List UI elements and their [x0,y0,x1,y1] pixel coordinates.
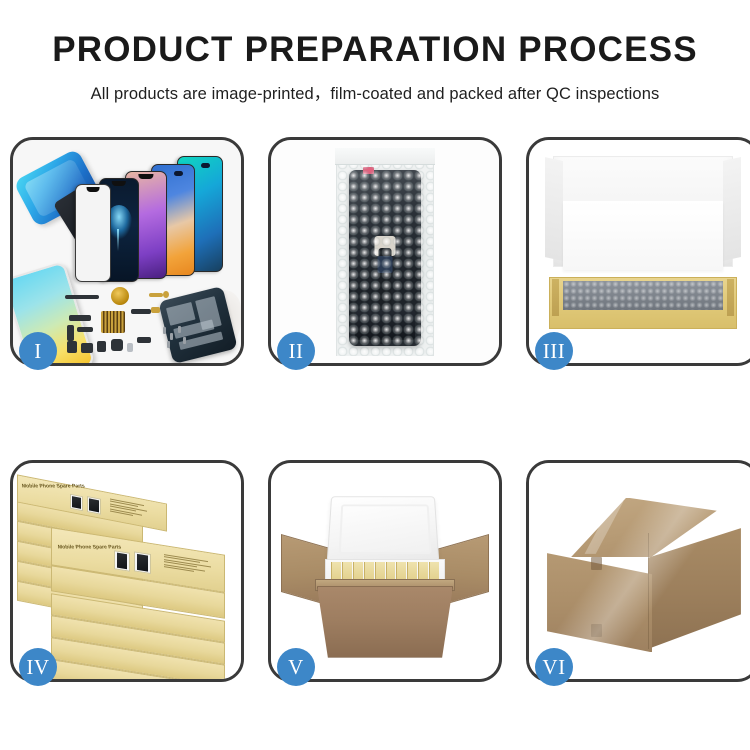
process-step-3: III [526,137,750,366]
phone-screen-1 [75,184,111,282]
process-step-4: Mobile Phone Spare Parts [10,460,244,682]
page-header: PRODUCT PREPARATION PROCESS All products… [0,0,750,104]
bubble-wrap-bag [336,148,434,356]
step-badge-5: V [277,648,315,686]
carton-body [317,586,453,657]
bubble-texture [337,148,433,356]
spare-parts-cluster [63,287,193,359]
process-step-grid: 06:08 [10,137,740,682]
step-badge-2: II [277,332,315,370]
step-4-image: Mobile Phone Spare Parts [13,463,241,679]
process-step-6: VI [526,460,750,682]
bubble-wrapped-contents [563,281,723,310]
box-stack: Mobile Phone Spare Parts [17,485,237,665]
box-brand-label-back: Mobile Phone Spare Parts [21,483,85,489]
page-subtitle: All products are image-printed，film-coat… [0,80,750,104]
step-5-image [271,463,499,679]
step-6-image [529,463,750,679]
foam-sheet [563,201,724,270]
bag-seal [335,148,435,165]
step-2-image [271,140,499,363]
yellow-tray [549,277,737,329]
step-3-image [529,140,750,363]
page-title: PRODUCT PREPARATION PROCESS [0,32,750,69]
step-badge-3: III [535,332,573,370]
process-step-1: 06:08 [10,137,244,366]
step-badge-6: VI [535,648,573,686]
step-badge-1: I [19,332,57,370]
shipping-carton-open [285,491,485,661]
process-step-2: II [268,137,502,366]
sealed-carton [543,487,745,663]
screws-group [163,325,189,351]
process-step-5: V [268,460,502,682]
foam-box-lid [327,497,440,563]
box-brand-label-front: Mobile Phone Spare Parts [58,544,122,550]
step-1-image: 06:08 [13,140,241,363]
phone-screen-fan: 06:08 [73,154,241,289]
inner-box-open [545,156,741,329]
step-badge-4: IV [19,648,57,686]
